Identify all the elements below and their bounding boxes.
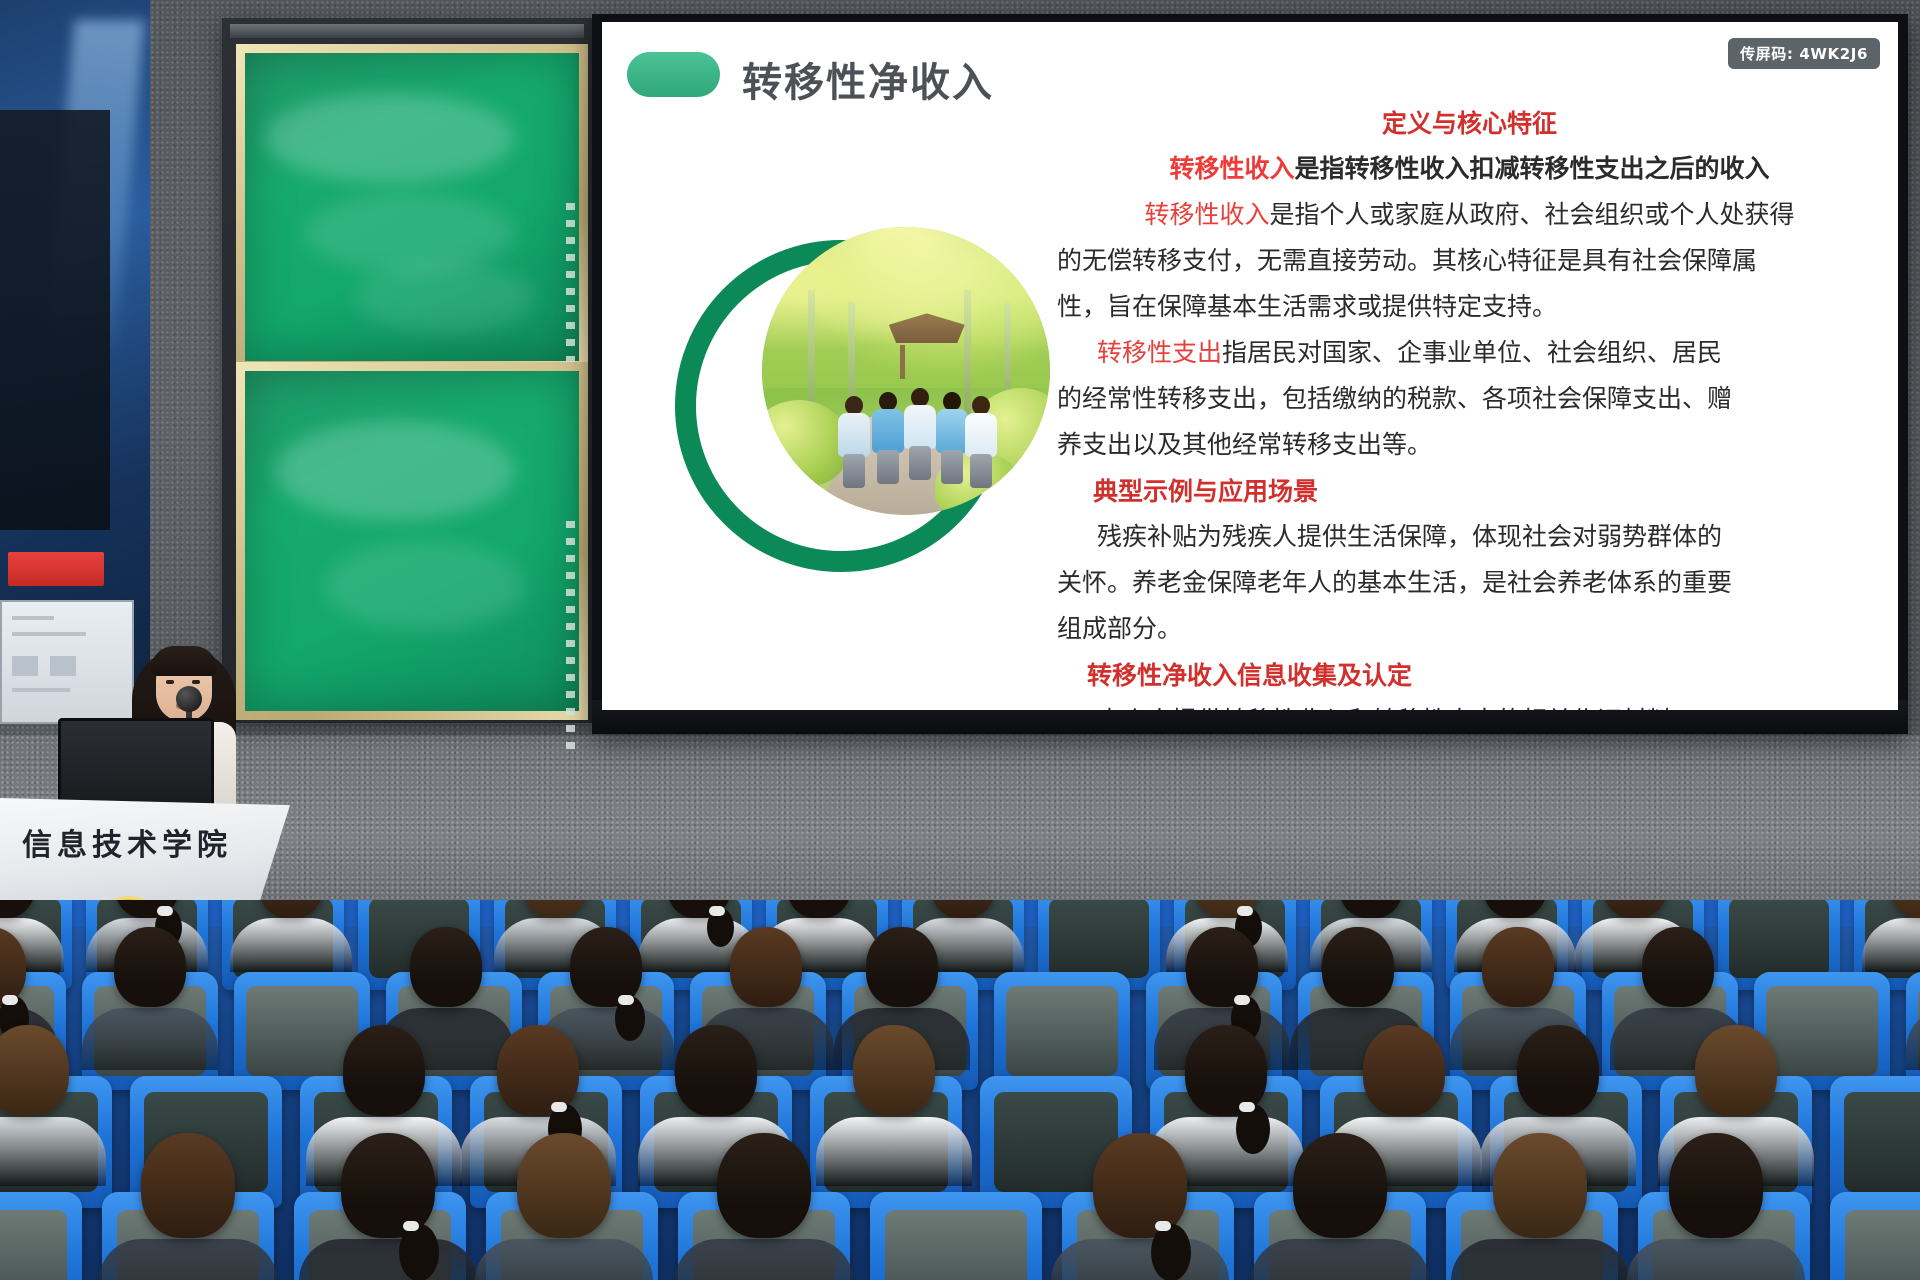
lectern-sign: 信息技术学院 bbox=[22, 820, 232, 864]
audience-member-head bbox=[1322, 927, 1394, 1008]
audience-member-head bbox=[1293, 1133, 1387, 1238]
section-heading: 定义与核心特征 bbox=[1057, 104, 1882, 140]
microphone-head bbox=[176, 686, 202, 712]
audience-member-ponytail bbox=[1151, 1224, 1190, 1280]
body-line: 关怀。养老金保障老年人的基本生活，是社会养老体系的重要 bbox=[1057, 560, 1882, 606]
body-text-run: 转移性收入 bbox=[1144, 200, 1269, 229]
hair-tie bbox=[157, 906, 173, 916]
audience-member-head bbox=[141, 1133, 235, 1238]
audience-member-head bbox=[1185, 1025, 1267, 1117]
body-text-run: 关怀。养老金保障老年人的基本生活，是社会养老体系的重要 bbox=[1057, 568, 1732, 597]
body-line: 养支出以及其他经常转移支出等。 bbox=[1057, 422, 1882, 468]
body-line: 性，旨在保障基本生活需求或提供特定支持。 bbox=[1057, 284, 1882, 330]
body-text-run: 的无偿转移支付，无需直接劳动。其核心特征是具有社会保障属 bbox=[1057, 246, 1757, 275]
body-text-run: 是指转移性收入扣减转移性支出之后的收入 bbox=[1295, 154, 1770, 183]
section-heading: 典型示例与应用场景 bbox=[1057, 472, 1882, 508]
body-line: 由个人提供转移性收入和转移性支出的相关佐证材料， bbox=[1057, 698, 1882, 710]
audience-member-head bbox=[730, 927, 802, 1008]
audience-member-head bbox=[1695, 1025, 1777, 1117]
hair-tie bbox=[618, 995, 634, 1005]
student-figure bbox=[871, 392, 905, 492]
hair-tie bbox=[551, 1102, 567, 1112]
auditorium-seat[interactable] bbox=[1830, 1192, 1920, 1280]
audience-member-shoulders bbox=[475, 1239, 654, 1280]
audience-member-head bbox=[1482, 927, 1554, 1008]
hair-tie bbox=[709, 906, 725, 916]
audience-member-shoulders bbox=[0, 1117, 106, 1186]
student-figure bbox=[837, 396, 871, 492]
audience-member-ponytail bbox=[399, 1224, 438, 1280]
audience-member-head bbox=[0, 1025, 69, 1117]
audience-member-head bbox=[497, 1025, 579, 1117]
campus-photo-circle bbox=[762, 227, 1050, 515]
audience-member-head bbox=[517, 1133, 611, 1238]
audience-member-head bbox=[341, 1133, 435, 1238]
audience-member-shoulders bbox=[675, 1239, 854, 1280]
audience-member-head bbox=[1642, 927, 1714, 1008]
audience-member-head bbox=[1517, 1025, 1599, 1117]
wall-lower-texture bbox=[0, 735, 1920, 910]
audience-member-shoulders bbox=[230, 918, 352, 972]
hair-tie bbox=[2, 995, 18, 1005]
slide-graphic bbox=[675, 222, 1055, 552]
pavilion-post bbox=[900, 345, 905, 379]
hair-tie bbox=[1237, 906, 1253, 916]
audience-member-head bbox=[675, 1025, 757, 1117]
slide-body-text: 定义与核心特征转移性收入是指转移性收入扣减转移性支出之后的收入转移性收入是指个人… bbox=[1057, 100, 1882, 710]
body-line: 残疾补贴为残疾人提供生活保障，体现社会对弱势群体的 bbox=[1057, 514, 1882, 560]
body-line: 组成部分。 bbox=[1057, 606, 1882, 652]
body-line: 转移性支出指居民对国家、企事业单位、社会组织、居民 bbox=[1057, 330, 1882, 376]
projection-screen[interactable]: 转移性净收入 传屏码: 4WK2J6 bbox=[602, 22, 1898, 710]
title-pill-decoration bbox=[627, 52, 720, 97]
wall-control-panel bbox=[0, 600, 134, 724]
body-line: 转移性收入是指转移性收入扣减转移性支出之后的收入 bbox=[1057, 146, 1882, 192]
audience-member-head bbox=[866, 927, 938, 1008]
body-text-run: 转移性支出 bbox=[1097, 338, 1222, 367]
chalkboard-panel-upper bbox=[236, 44, 588, 370]
hair-tie bbox=[1239, 1102, 1255, 1112]
auditorium-seat[interactable] bbox=[870, 1192, 1042, 1280]
slide-title: 转移性净收入 bbox=[742, 50, 994, 108]
left-doorway bbox=[0, 110, 110, 530]
presenter-fringe bbox=[151, 646, 217, 676]
audience-member-shoulders bbox=[82, 1008, 219, 1069]
screen-share-code-badge: 传屏码: 4WK2J6 bbox=[1728, 38, 1880, 69]
blackboard-top-rail bbox=[230, 24, 584, 38]
audience-member-head bbox=[114, 927, 186, 1008]
body-text-run: 转移性收入 bbox=[1169, 154, 1294, 183]
audience-member-head bbox=[717, 1133, 811, 1238]
blackboard-side-marks-lower bbox=[566, 521, 575, 751]
audience-member-head bbox=[1093, 1133, 1187, 1238]
audience-member-shoulders bbox=[1451, 1239, 1630, 1280]
lecture-hall-photo: 转移性净收入 传屏码: 4WK2J6 bbox=[0, 0, 1920, 1280]
auditorium-seat[interactable] bbox=[1830, 1076, 1920, 1208]
student-figure bbox=[964, 396, 998, 492]
hair-tie bbox=[403, 1221, 419, 1231]
hair-tie bbox=[1155, 1221, 1171, 1231]
body-text-run: 养支出以及其他经常转移支出等。 bbox=[1057, 430, 1432, 459]
audience-member-head bbox=[1669, 1133, 1763, 1238]
body-line: 的无偿转移支付，无需直接劳动。其核心特征是具有社会保障属 bbox=[1057, 238, 1882, 284]
audience-member-head bbox=[410, 927, 482, 1008]
body-line: 转移性收入是指个人或家庭从政府、社会组织或个人处获得 bbox=[1057, 192, 1882, 238]
audience-member-shoulders bbox=[1627, 1239, 1806, 1280]
section-heading: 转移性净收入信息收集及认定 bbox=[1057, 656, 1882, 692]
auditorium-seat[interactable] bbox=[994, 972, 1130, 1090]
audience-member-shoulders bbox=[299, 1239, 478, 1280]
audience-member-shoulders bbox=[1051, 1239, 1230, 1280]
audience-member-shoulders bbox=[99, 1239, 278, 1280]
body-text-run: 指居民对国家、企事业单位、社会组织、居民 bbox=[1222, 338, 1722, 367]
body-text-run: 残疾补贴为残疾人提供生活保障，体现社会对弱势群体的 bbox=[1097, 522, 1722, 551]
body-text-run: 组成部分。 bbox=[1057, 614, 1182, 643]
audience-member-head bbox=[1493, 1133, 1587, 1238]
audience-member-head bbox=[1363, 1025, 1445, 1117]
audience-member-head bbox=[343, 1025, 425, 1117]
auditorium-seat[interactable] bbox=[0, 1192, 82, 1280]
audience-seating bbox=[0, 900, 1920, 1280]
audience-member-head bbox=[853, 1025, 935, 1117]
body-text-run: 由个人提供转移性收入和转移性支出的相关佐证材料， bbox=[1097, 706, 1697, 710]
chalkboard-panel-lower bbox=[236, 362, 588, 720]
audience-member-shoulders bbox=[1251, 1239, 1430, 1280]
body-text-run: 性，旨在保障基本生活需求或提供特定支持。 bbox=[1057, 292, 1557, 321]
audience-member-shoulders bbox=[816, 1117, 972, 1186]
student-figure bbox=[903, 388, 937, 492]
body-line: 的经常性转移支出，包括缴纳的税款、各项社会保障支出、赠 bbox=[1057, 376, 1882, 422]
body-text-run: 的经常性转移支出，包括缴纳的税款、各项社会保障支出、赠 bbox=[1057, 384, 1732, 413]
wall-poster bbox=[8, 552, 104, 586]
hair-tie bbox=[1234, 995, 1250, 1005]
body-text-run: 是指个人或家庭从政府、社会组织或个人处获得 bbox=[1270, 200, 1795, 229]
